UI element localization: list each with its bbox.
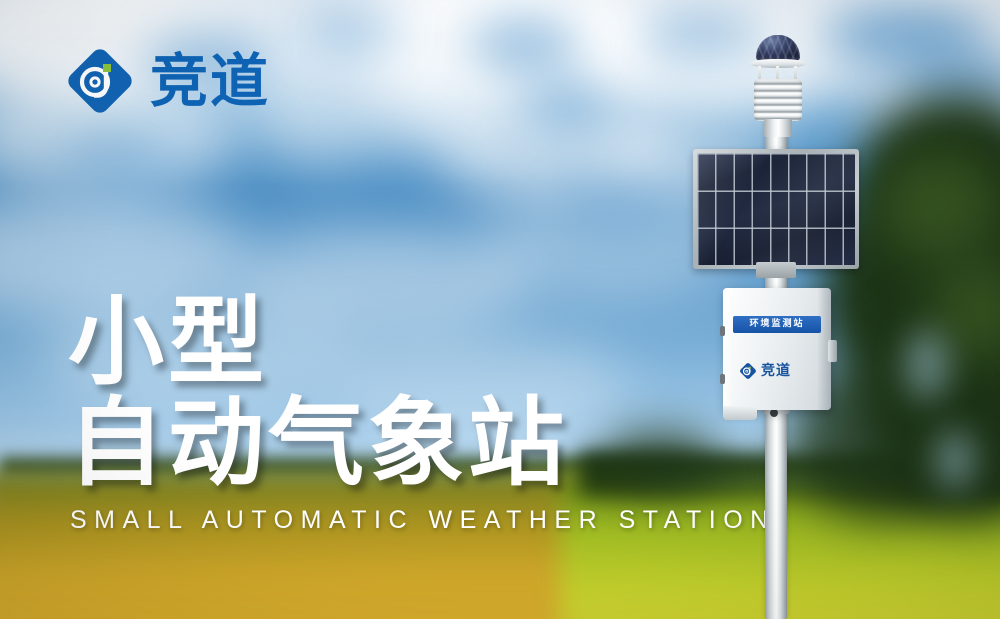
sensor-dome xyxy=(756,35,800,61)
control-box-latch xyxy=(720,374,725,384)
brand-logo[interactable]: 竞道 xyxy=(64,45,270,117)
solar-panel-icon xyxy=(693,149,859,269)
jingdao-diamond-logo-icon xyxy=(739,362,757,380)
tree-foliage-highlight xyxy=(880,150,1000,260)
headline-line-2: 自动气象站 xyxy=(68,393,776,494)
solar-panel-glare xyxy=(697,153,855,265)
headline-block: 小型 自动气象站 SMALL AUTOMATIC WEATHER STATION xyxy=(68,292,776,535)
control-box-label-text: 环境监测站 xyxy=(749,320,804,329)
control-box-left-bevel xyxy=(723,288,733,410)
brand-name: 竞道 xyxy=(150,52,270,110)
control-box[interactable]: 环境监测站 竞道 xyxy=(723,288,831,410)
jingdao-diamond-logo-icon xyxy=(64,45,136,117)
solar-panel-bracket xyxy=(756,262,796,278)
mast-bolt xyxy=(770,409,778,417)
radiation-shield xyxy=(754,79,802,121)
control-box-brand-logo: 竞道 xyxy=(739,362,791,380)
headline-subtitle: SMALL AUTOMATIC WEATHER STATION xyxy=(70,506,776,535)
tree-sky-gap xyxy=(935,430,975,490)
solar-panel-frame xyxy=(693,149,859,269)
ultrasonic-weather-sensor-icon xyxy=(742,35,814,135)
control-box-body xyxy=(723,288,831,410)
tree-sky-gap xyxy=(905,330,949,400)
control-box-hinge xyxy=(828,340,837,362)
control-box-label-banner: 环境监测站 xyxy=(733,316,821,333)
weather-station-product-banner: 竞道 小型 自动气象站 SMALL AUTOMATIC WEATHER STAT… xyxy=(0,0,1000,619)
headline-line-1: 小型 xyxy=(68,292,776,393)
sensor-base xyxy=(764,119,792,137)
control-box-latch xyxy=(720,326,725,336)
control-box-brand-name: 竞道 xyxy=(761,364,791,378)
control-box-foot xyxy=(723,406,757,420)
sensor-dome-facets xyxy=(756,35,800,61)
